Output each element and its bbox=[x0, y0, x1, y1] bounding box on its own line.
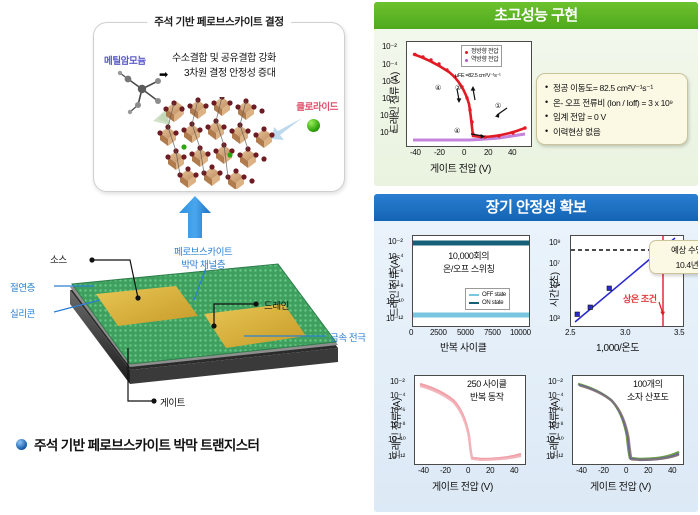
onoff-xtick-5: 10000 bbox=[510, 328, 531, 337]
panel-stability-body: OFF state ON state 10,000회의 온/오프 스위칭 10⁻… bbox=[374, 221, 698, 512]
onoff-xtick-2: 2500 bbox=[430, 328, 447, 337]
label-source: 소스 bbox=[50, 252, 67, 266]
label-silicon: 실리콘 bbox=[10, 306, 35, 320]
annotation-cycle-line1: 250 사이클 bbox=[467, 379, 507, 389]
cyc-ytick-1: 10⁻² bbox=[390, 377, 405, 386]
chart-arrhenius-lifetime: 예상 수명 10.4년 상온 조건 bbox=[570, 235, 684, 327]
tft-device-schematic: 소스 절연층 실리콘 페로브스카이트 박막 채널층 드레인 금속 전극 게이트 bbox=[8, 238, 368, 428]
room-temp-label: 상온 조건 bbox=[623, 292, 657, 305]
lifetime-callout: 예상 수명 10.4년 bbox=[649, 240, 698, 274]
callout-line2: 10.4년 bbox=[676, 260, 698, 270]
uni-xtick-4: 20 bbox=[644, 466, 652, 475]
cyc-xtick-4: 20 bbox=[486, 466, 494, 475]
methylammonium-label: 메틸암모늄 bbox=[104, 53, 146, 67]
cyc-xtick-3: 0 bbox=[466, 466, 470, 475]
xtick-3: 0 bbox=[462, 148, 466, 157]
onoff-xtick-4: 7500 bbox=[484, 328, 501, 337]
uni-xaxis-title: 게이트 전압 (V) bbox=[590, 478, 651, 493]
legend-label-reverse: 역방향 전압 bbox=[471, 56, 498, 64]
metric-onoff-ratio: 온- 오프 전류비 (Ion / Ioff) = 3 x 10⁹ bbox=[545, 96, 681, 111]
xaxis-title-transfer: 게이트 전압 (V) bbox=[430, 160, 491, 175]
cyc-xaxis-title: 게이트 전압 (V) bbox=[432, 478, 493, 493]
legend-item-forward: 정방향 전압 bbox=[465, 48, 498, 56]
mobility-annotation: μFE =82.5 cm²V⁻¹s⁻¹ bbox=[455, 70, 501, 83]
legend-onoff: OFF state ON state bbox=[465, 288, 510, 310]
panel-performance-header: 초고성능 구현 bbox=[374, 2, 698, 29]
annotation-2: ② bbox=[455, 82, 461, 95]
uni-yaxis-title: 드레인 전류 (A) bbox=[546, 398, 561, 459]
chart-device-uniformity: 100개의 소자 산포도 bbox=[572, 375, 684, 465]
onoff-xtick-1: 0 bbox=[409, 328, 413, 337]
legend-dot-reverse bbox=[465, 59, 468, 62]
chart-transfer-curve: ④ ② ① ④ 정방향 전압 역방향 전압 μFE =82.5 cm²V⁻¹s⁻… bbox=[406, 41, 532, 147]
legend-item-on-state: ON state bbox=[469, 299, 506, 307]
arr-ytick-4: 10³ bbox=[549, 314, 560, 323]
slide-root: 주석 기반 페로브스카이트 결정 메틸암모늄 수소결합 및 공유결합 강화 bbox=[0, 0, 700, 515]
cyc-yaxis-title: 드레인 전류 (A) bbox=[388, 398, 403, 459]
uni-xtick-1: -40 bbox=[576, 466, 587, 475]
perovskite-lattice-diagram bbox=[154, 97, 294, 189]
label-drain: 드레인 bbox=[264, 298, 289, 312]
annotation-cycle-line2: 반복 동작 bbox=[470, 392, 504, 402]
onoff-xtick-3: 5000 bbox=[457, 328, 474, 337]
chart-onoff-switching: OFF state ON state 10,000회의 온/오프 스위칭 bbox=[412, 235, 530, 327]
legend-label-forward: 정방향 전압 bbox=[471, 48, 498, 56]
arr-ytick-1: 10⁹ bbox=[549, 238, 560, 247]
panel-performance: 초고성능 구현 bbox=[374, 2, 698, 186]
device-caption: 주석 기반 페로브스카이트 박막 트랜지스터 bbox=[16, 434, 259, 454]
arr-xtick-3: 3.5 bbox=[674, 328, 684, 337]
legend-line-on bbox=[469, 302, 479, 304]
uni-ytick-1: 10⁻² bbox=[548, 377, 563, 386]
legend-item-reverse: 역방향 전압 bbox=[465, 56, 498, 64]
legend-transfer-curve: 정방향 전압 역방향 전압 bbox=[461, 45, 502, 67]
panel-stability-header: 장기 안정성 확보 bbox=[374, 194, 698, 221]
legend-dot-forward bbox=[465, 51, 468, 54]
annotation-cycle: 250 사이클 반복 동작 bbox=[467, 378, 507, 404]
xtick-1: -40 bbox=[410, 148, 421, 157]
arr-yaxis-title: 시간 (초) bbox=[546, 272, 561, 307]
bond-strengthening-text: 수소결합 및 공유결합 강화 ➡ 3차원 결정 안정성 증대 bbox=[172, 51, 338, 81]
label-insulator: 절연층 bbox=[10, 280, 35, 294]
label-channel-line2: 박막 채널층 bbox=[181, 260, 225, 271]
chloride-ion-icon bbox=[307, 119, 320, 132]
bond-line-2: 3차원 결정 안정성 증대 bbox=[184, 68, 276, 79]
uni-xtick-5: 40 bbox=[668, 466, 676, 475]
onoff-ytick-1: 10⁻² bbox=[388, 237, 403, 246]
label-metal-electrode: 금속 전극 bbox=[330, 330, 366, 344]
ytick-2: 10⁻⁴ bbox=[382, 60, 397, 69]
annotation-1: ① bbox=[495, 100, 501, 113]
legend-item-off-state: OFF state bbox=[469, 291, 506, 299]
arr-xtick-1: 2.5 bbox=[565, 328, 575, 337]
cyc-xtick-2: -20 bbox=[440, 466, 451, 475]
legend-label-off: OFF state bbox=[482, 291, 506, 299]
crystal-card-title: 주석 기반 페로브스카이트 결정 bbox=[147, 14, 291, 29]
label-gate: 게이트 bbox=[160, 395, 185, 409]
annotation-switching-line1: 10,000회의 bbox=[448, 251, 489, 261]
metric-mobility: 정공 이동도= 82.5 cm²V⁻¹s⁻¹ bbox=[545, 81, 681, 96]
left-column: 주석 기반 페로브스카이트 결정 메틸암모늄 수소결합 및 공유결합 강화 bbox=[0, 0, 372, 515]
legend-line-off bbox=[469, 294, 479, 296]
onoff-yaxis-title: 드레인 전류 (A) bbox=[386, 256, 401, 317]
label-channel: 페로브스카이트 박막 채널층 bbox=[174, 246, 232, 272]
callout-line1: 예상 수명 bbox=[671, 245, 698, 255]
annotation-uniformity-line2: 소자 산포도 bbox=[627, 392, 669, 402]
bond-line-1: 수소결합 및 공유결합 강화 bbox=[172, 53, 276, 64]
xtick-4: 20 bbox=[484, 148, 492, 157]
onoff-xaxis-title: 반복 사이클 bbox=[440, 339, 486, 354]
annotation-switching: 10,000회의 온/오프 스위칭 bbox=[443, 250, 494, 276]
ytick-1: 10⁻² bbox=[382, 42, 397, 51]
panel-performance-body: ④ ② ① ④ 정방향 전압 역방향 전압 μFE =82.5 cm²V⁻¹s⁻… bbox=[374, 29, 698, 186]
annotation-uniformity: 100개의 소자 산포도 bbox=[627, 378, 669, 404]
metric-no-hysteresis: 이력현상 없음 bbox=[545, 125, 681, 140]
uni-xtick-3: 0 bbox=[624, 466, 628, 475]
annotation-switching-line2: 온/오프 스위칭 bbox=[443, 264, 494, 274]
right-arrow-icon: ➡ bbox=[159, 68, 168, 83]
xtick-5: 40 bbox=[508, 148, 516, 157]
legend-label-on: ON state bbox=[482, 299, 503, 307]
cyc-xtick-1: -40 bbox=[418, 466, 429, 475]
uni-xtick-2: -20 bbox=[598, 466, 609, 475]
arr-ytick-2: 10⁷ bbox=[549, 259, 560, 268]
panel-stability: 장기 안정성 확보 OFF state ON state bbox=[374, 194, 698, 512]
annotation-uniformity-line1: 100개의 bbox=[633, 379, 663, 389]
performance-metrics-box: 정공 이동도= 82.5 cm²V⁻¹s⁻¹ 온- 오프 전류비 (Ion / … bbox=[536, 73, 688, 145]
performance-metrics-list: 정공 이동도= 82.5 cm²V⁻¹s⁻¹ 온- 오프 전류비 (Ion / … bbox=[545, 81, 681, 139]
label-channel-line1: 페로브스카이트 bbox=[174, 247, 232, 258]
chloride-label: 클로라이드 bbox=[296, 99, 338, 113]
annotation-4: ④ bbox=[454, 125, 460, 138]
cyc-xtick-5: 40 bbox=[510, 466, 518, 475]
metric-threshold-voltage: 임계 전압 = 0 V bbox=[545, 110, 681, 125]
bullet-icon bbox=[16, 439, 27, 450]
chart-cycle-repeat: 250 사이클 반복 동작 bbox=[414, 375, 526, 465]
xtick-2: -20 bbox=[434, 148, 445, 157]
arr-xaxis-title: 1,000/온도 bbox=[596, 339, 639, 354]
upward-arrow-icon bbox=[178, 196, 212, 238]
annotation-3: ④ bbox=[435, 82, 441, 95]
crystal-structure-card: 주석 기반 페로브스카이트 결정 메틸암모늄 수소결합 및 공유결합 강화 bbox=[93, 22, 345, 192]
yaxis-title-transfer: 드레인 전류 (A) bbox=[386, 72, 401, 133]
arr-xtick-2: 3.0 bbox=[620, 328, 630, 337]
device-caption-text: 주석 기반 페로브스카이트 박막 트랜지스터 bbox=[34, 434, 259, 454]
